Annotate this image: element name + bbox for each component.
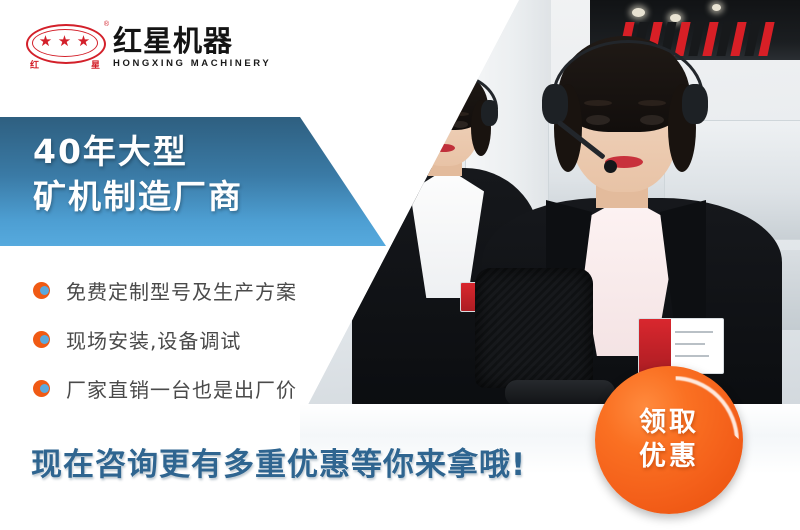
bullet-dot-icon <box>33 282 50 299</box>
list-item: 免费定制型号及生产方案 <box>0 266 360 315</box>
star-icon: ★ <box>76 34 91 49</box>
list-item-label: 现场安装,设备调试 <box>66 325 241 354</box>
headline-banner: 40年大型 矿机制造厂商 <box>0 117 386 246</box>
ceiling-light-icon <box>632 8 645 17</box>
oval-star-logo-icon: ★ ★ ★ ® 红 星 <box>26 20 104 74</box>
bullet-dot-icon <box>33 380 50 397</box>
headline-line-2: 矿机制造厂商 <box>33 179 243 215</box>
promo-slogan: 现在咨询更有多重优惠等你来拿哦! <box>31 447 526 483</box>
ceiling-light-icon <box>670 14 681 22</box>
list-item: 厂家直销一台也是出厂价 <box>0 364 360 413</box>
star-icon: ★ <box>38 34 53 49</box>
logo-sub-right: 星 <box>91 60 100 70</box>
bullet-dot-icon <box>33 331 50 348</box>
employee-badge <box>638 318 724 374</box>
feature-list: 免费定制型号及生产方案 现场安装,设备调试 厂家直销一台也是出厂价 <box>0 266 360 413</box>
cta-label-line-2: 优惠 <box>639 440 699 474</box>
company-name-en: HONGXING MACHINERY <box>113 58 271 70</box>
cta-label-line-1: 领取 <box>639 406 699 440</box>
star-icon: ★ <box>57 34 72 49</box>
list-item: 现场安装,设备调试 <box>0 315 360 364</box>
office-chair <box>465 268 605 412</box>
company-name-cn: 红星机器 <box>113 25 271 57</box>
headline-line-1: 40年大型 <box>33 134 188 170</box>
ceiling-light-icon <box>712 4 721 11</box>
list-item-label: 免费定制型号及生产方案 <box>66 276 297 305</box>
registered-mark: ® <box>104 21 109 28</box>
list-item-label: 厂家直销一台也是出厂价 <box>66 374 297 403</box>
logo-sub-left: 红 <box>30 60 39 70</box>
brand-logo[interactable]: ★ ★ ★ ® 红 星 红星机器 HONGXING MACHINERY <box>26 20 271 74</box>
claim-offer-button[interactable]: 领取 优惠 <box>595 366 743 514</box>
promo-banner: ★ ★ ★ ® 红 星 红星机器 HONGXING MACHINERY 40年大… <box>0 0 800 530</box>
header-bar: ★ ★ ★ ® 红 星 红星机器 HONGXING MACHINERY <box>0 0 340 96</box>
